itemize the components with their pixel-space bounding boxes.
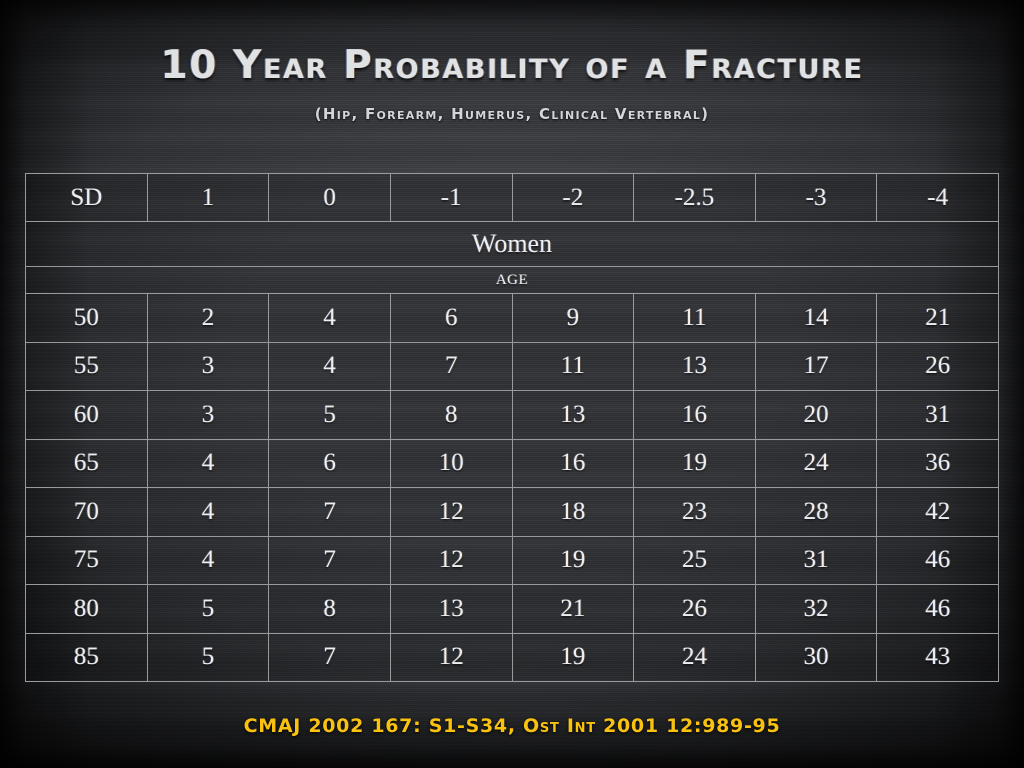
cell-age: 75 [26,536,148,585]
cell-value: 21 [877,294,999,343]
table-row: 70 4 7 12 18 23 28 42 [26,488,999,537]
table-row: 75 4 7 12 19 25 31 46 [26,536,999,585]
cell-value: 6 [390,294,512,343]
table-row: 55 3 4 7 11 13 17 26 [26,342,999,391]
cell-value: 17 [755,342,877,391]
cell-value: 20 [755,391,877,440]
cell-value: 25 [634,536,756,585]
cell-age: 60 [26,391,148,440]
cell-value: 46 [877,536,999,585]
cell-value: 6 [269,439,391,488]
cell-value: 16 [512,439,634,488]
cell-value: 13 [634,342,756,391]
cell-value: 21 [512,585,634,634]
table-axis-label-row: AGE [26,267,999,294]
cell-value: 8 [390,391,512,440]
fracture-probability-table: SD 1 0 -1 -2 -2.5 -3 -4 Women AGE 50 [25,173,999,682]
citation-text: CMAJ 2002 167: S1-S34, Ost Int 2001 12:9… [0,713,1024,739]
cell-value: 4 [147,536,269,585]
cell-value: 24 [634,633,756,682]
row-axis-label-age: AGE [26,267,999,294]
cell-value: 3 [147,342,269,391]
cell-value: 31 [877,391,999,440]
cell-value: 36 [877,439,999,488]
column-header-sd: SD [26,174,148,222]
cell-value: 7 [269,488,391,537]
table-row: 85 5 7 12 19 24 30 43 [26,633,999,682]
page-title: 10 Year Probability of a Fracture [0,44,1024,88]
cell-value: 2 [147,294,269,343]
cell-value: 8 [269,585,391,634]
table-row: 65 4 6 10 16 19 24 36 [26,439,999,488]
cell-value: 7 [269,633,391,682]
cell-value: 32 [755,585,877,634]
table-header-row: SD 1 0 -1 -2 -2.5 -3 -4 [26,174,999,222]
column-header-neg25: -2.5 [634,174,756,222]
cell-value: 16 [634,391,756,440]
cell-age: 70 [26,488,148,537]
table-row: 60 3 5 8 13 16 20 31 [26,391,999,440]
cell-value: 11 [634,294,756,343]
cell-value: 4 [269,294,391,343]
cell-value: 43 [877,633,999,682]
table-row: 80 5 8 13 21 26 32 46 [26,585,999,634]
cell-value: 42 [877,488,999,537]
cell-value: 24 [755,439,877,488]
cell-value: 19 [512,536,634,585]
cell-value: 46 [877,585,999,634]
cell-value: 23 [634,488,756,537]
cell-value: 18 [512,488,634,537]
cell-value: 28 [755,488,877,537]
cell-age: 85 [26,633,148,682]
cell-age: 80 [26,585,148,634]
cell-value: 31 [755,536,877,585]
cell-value: 5 [147,585,269,634]
cell-value: 26 [877,342,999,391]
cell-value: 3 [147,391,269,440]
column-header-neg3: -3 [755,174,877,222]
cell-value: 14 [755,294,877,343]
cell-value: 12 [390,536,512,585]
cell-value: 11 [512,342,634,391]
cell-value: 12 [390,488,512,537]
column-header-1: 1 [147,174,269,222]
cell-value: 19 [512,633,634,682]
cell-age: 65 [26,439,148,488]
column-header-neg4: -4 [877,174,999,222]
cell-value: 13 [390,585,512,634]
cell-age: 55 [26,342,148,391]
table-row: 50 2 4 6 9 11 14 21 [26,294,999,343]
table-group-row-women: Women [26,222,999,267]
cell-value: 9 [512,294,634,343]
cell-value: 12 [390,633,512,682]
table-body: SD 1 0 -1 -2 -2.5 -3 -4 Women AGE 50 [26,174,999,682]
cell-value: 13 [512,391,634,440]
cell-value: 5 [269,391,391,440]
cell-value: 10 [390,439,512,488]
cell-value: 26 [634,585,756,634]
cell-value: 30 [755,633,877,682]
cell-value: 19 [634,439,756,488]
cell-value: 7 [390,342,512,391]
cell-value: 4 [147,488,269,537]
column-header-neg1: -1 [390,174,512,222]
slide-content: 10 Year Probability of a Fracture (Hip, … [0,0,1024,768]
slide: 10 Year Probability of a Fracture (Hip, … [0,0,1024,768]
column-header-neg2: -2 [512,174,634,222]
page-subtitle: (Hip, Forearm, Humerus, Clinical Vertebr… [0,104,1024,124]
column-header-0: 0 [269,174,391,222]
cell-value: 7 [269,536,391,585]
cell-value: 4 [147,439,269,488]
cell-age: 50 [26,294,148,343]
cell-value: 4 [269,342,391,391]
group-label-women: Women [26,222,999,267]
cell-value: 5 [147,633,269,682]
